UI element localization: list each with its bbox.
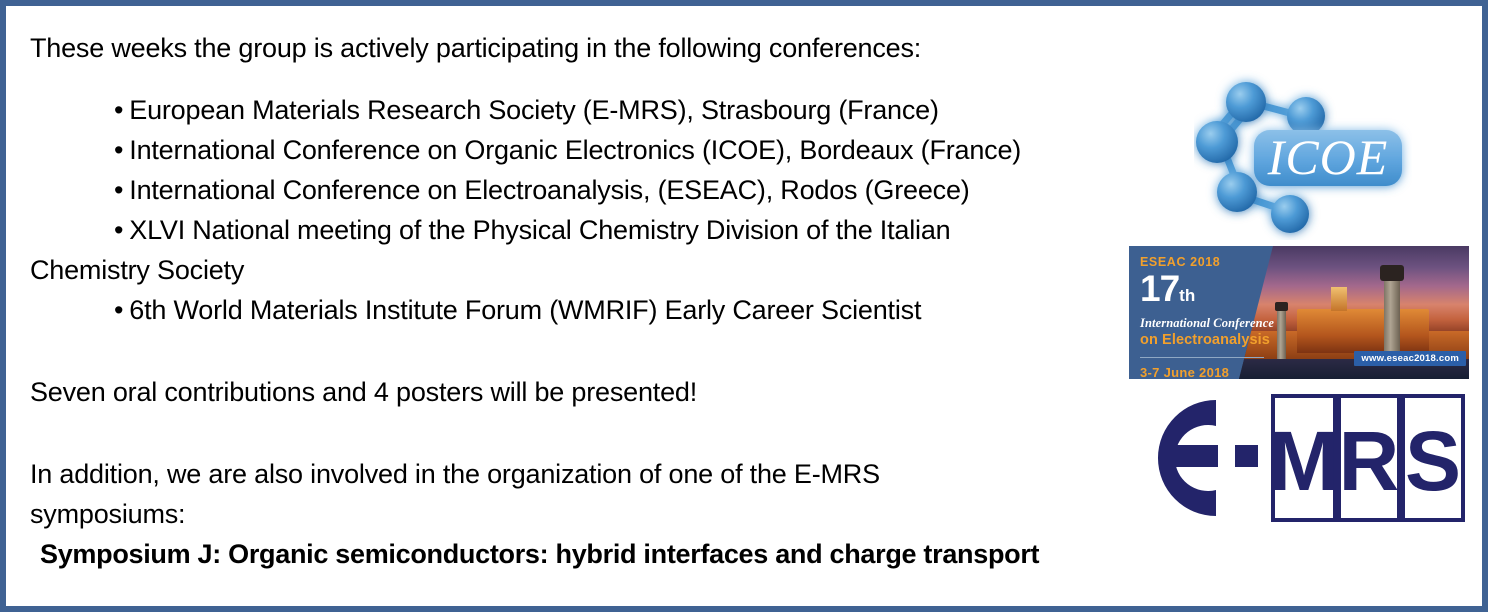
emrs-letter-box-m: M (1269, 396, 1339, 520)
eseac-edition-suffix: th (1179, 286, 1195, 305)
list-item: •6th World Materials Institute Forum (WM… (114, 290, 1140, 330)
list-item: •XLVI National meeting of the Physical C… (114, 210, 1140, 250)
deer-column-right (1384, 281, 1400, 359)
intro-paragraph: These weeks the group is actively partic… (30, 28, 1140, 68)
eseac-text-panel: ESEAC 2018 17th International Conference… (1129, 246, 1279, 379)
emrs-letter-s: S (1405, 414, 1461, 508)
conference-bullet-list: •European Materials Research Society (E-… (30, 90, 1140, 330)
list-item: •International Conference on Organic Ele… (114, 130, 1140, 170)
slide-text-body: These weeks the group is actively partic… (30, 28, 1140, 574)
eseac-edition: 17th (1140, 271, 1279, 314)
spacer (30, 412, 1140, 454)
emrs-letter-box-s: S (1403, 396, 1463, 520)
divider (1140, 357, 1264, 358)
deer-statue-right-icon (1380, 265, 1404, 281)
bullet-icon: • (114, 95, 123, 125)
list-item-label: XLVI National meeting of the Physical Ch… (129, 215, 950, 245)
list-item: •International Conference on Electroanal… (114, 170, 1140, 210)
icoe-molecule-icon: ICOE (1194, 68, 1412, 240)
icoe-logo: ICOE (1194, 68, 1412, 240)
emrs-letter-m: M (1269, 414, 1339, 508)
emrs-letter-box-r: R (1339, 396, 1400, 520)
bullet-icon: • (114, 175, 123, 205)
list-item-label: European Materials Research Society (E-M… (129, 95, 939, 125)
eseac-conference-line: International Conference (1140, 316, 1279, 331)
emrs-letter-r: R (1339, 414, 1400, 508)
eseac-website-badge[interactable]: www.eseac2018.com (1354, 351, 1466, 366)
eseac-topic-line: on Electroanalysis (1140, 332, 1279, 348)
list-item-label: 6th World Materials Institute Forum (WMR… (129, 295, 921, 325)
eseac-dates: 3-7 June 2018 (1140, 365, 1279, 379)
eseac-conference-banner: ESEAC 2018 17th International Conference… (1129, 246, 1469, 379)
spacer (30, 330, 1140, 372)
bullet-icon: • (114, 135, 123, 165)
eseac-acronym-year: ESEAC 2018 (1140, 255, 1279, 269)
emrs-dot-icon (1235, 445, 1258, 467)
bullet-icon: • (114, 215, 123, 245)
list-item: •European Materials Research Society (E-… (114, 90, 1140, 130)
contributions-paragraph: Seven oral contributions and 4 posters w… (30, 372, 1140, 412)
presentation-slide: These weeks the group is actively partic… (0, 0, 1488, 612)
emrs-logo: M R S (1142, 394, 1467, 522)
eseac-edition-number: 17 (1140, 268, 1179, 309)
list-item-label: International Conference on Electroanaly… (129, 175, 969, 205)
fort-of-st-nicholas (1297, 309, 1429, 353)
addition-paragraph-line2: symposiums: (30, 494, 1140, 534)
emrs-e-icon (1158, 400, 1218, 516)
icoe-wordmark: ICOE (1267, 129, 1389, 185)
list-item-label: International Conference on Organic Elec… (129, 135, 1021, 165)
symposium-title: Symposium J: Organic semiconductors: hyb… (30, 534, 1140, 574)
addition-paragraph-line1: In addition, we are also involved in the… (30, 454, 1140, 494)
list-item-continuation: Chemistry Society (30, 250, 1140, 290)
bullet-icon: • (114, 295, 123, 325)
